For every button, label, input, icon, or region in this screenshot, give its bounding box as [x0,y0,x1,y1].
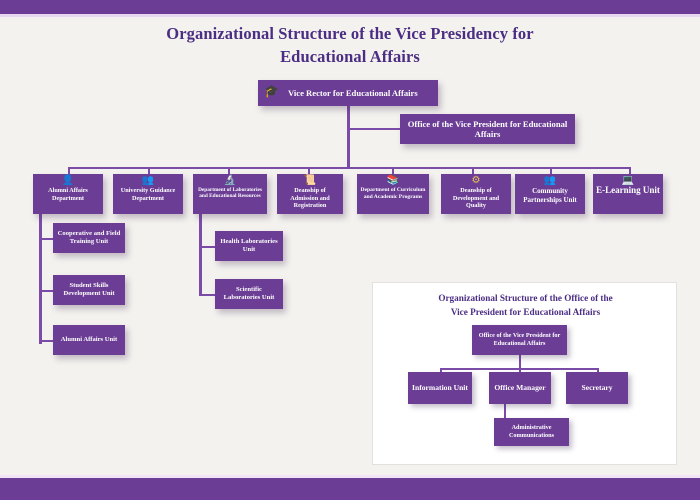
node-elearning-unit-label: E-Learning Unit [596,185,660,196]
inset-node-administrative-communications-label: Administrative Communications [496,424,567,440]
node-admission-registration-deanship-label: Deanship of Admission and Registration [280,187,340,210]
node-elearning-unit[interactable]: E-Learning Unit [593,174,663,214]
node-student-skills-development-unit-label: Student Skills Development Unit [56,282,122,298]
node-curriculum-department-label: Department of Curriculum and Academic Pr… [360,187,426,201]
node-scientific-laboratories-unit[interactable]: Scientific Laboratories Unit [215,279,283,309]
node-office-vice-president[interactable]: Office of the Vice President for Educati… [400,114,575,144]
page-title-line2: Educational Affairs [0,45,700,68]
node-health-laboratories-unit[interactable]: Health Laboratories Unit [215,231,283,261]
inset-node-office-vice-president[interactable]: Office of the Vice President for Educati… [472,325,567,355]
node-vice-rector-label: Vice Rector for Educational Affairs [288,88,435,98]
connector-labs-spine [199,214,202,296]
connector-alumni-spine [39,214,42,344]
node-development-quality-deanship[interactable]: Deanship of Development and Quality [441,174,511,214]
node-alumni-affairs-unit[interactable]: Alumni Affairs Unit [53,325,125,355]
inset-node-office-manager-label: Office Manager [494,383,545,392]
inset-node-office-vice-president-label: Office of the Vice President for Educati… [474,332,565,348]
inset-node-office-manager[interactable]: Office Manager [489,372,551,404]
connector-labs-elbow-2 [201,294,215,296]
connector-alumni-elbow-2 [41,290,53,292]
node-student-skills-development-unit[interactable]: Student Skills Development Unit [53,275,125,305]
bottom-accent-bar [0,478,700,500]
connector-alumni-elbow-1 [41,238,53,240]
inset-node-information-unit-label: Information Unit [412,383,468,392]
connector-department-bus [68,167,630,169]
connector-labs-elbow-1 [201,246,215,248]
page-title-line1: Organizational Structure of the Vice Pre… [0,22,700,45]
node-laboratories-department-label: Department of Laboratories and Education… [196,187,264,200]
node-alumni-affairs-department-label: Alumni Affairs Department [36,187,100,202]
node-curriculum-department[interactable]: Department of Curriculum and Academic Pr… [357,174,429,214]
node-university-guidance-department-label: University Guidance Department [116,187,180,202]
inset-panel-title-line2: Vice President for Educational Affairs [373,305,678,319]
connector-root-to-office [349,128,401,130]
inset-panel-title: Organizational Structure of the Office o… [373,291,678,319]
node-health-laboratories-unit-label: Health Laboratories Unit [218,238,280,254]
top-accent-bar [0,0,700,14]
node-cooperative-field-training-unit-label: Cooperative and Field Training Unit [56,230,122,246]
org-chart-canvas: Organizational Structure of the Vice Pre… [0,0,700,500]
connector-root-trunk [347,106,350,168]
inset-connector-trunk [519,355,521,369]
node-development-quality-deanship-label: Deanship of Development and Quality [444,187,508,210]
node-laboratories-department[interactable]: Department of Laboratories and Education… [193,174,267,214]
node-community-partnerships-unit-label: Community Partnerships Unit [518,187,582,204]
bottom-accent-overline [0,475,700,478]
page-title: Organizational Structure of the Vice Pre… [0,22,700,68]
node-alumni-affairs-department[interactable]: Alumni Affairs Department [33,174,103,214]
inset-node-administrative-communications[interactable]: Administrative Communications [494,418,569,446]
node-admission-registration-deanship[interactable]: Deanship of Admission and Registration [277,174,343,214]
node-scientific-laboratories-unit-label: Scientific Laboratories Unit [218,286,280,302]
top-accent-underline [0,14,700,17]
node-community-partnerships-unit[interactable]: Community Partnerships Unit [515,174,585,214]
inset-node-secretary-label: Secretary [581,383,612,392]
node-office-vice-president-label: Office of the Vice President for Educati… [403,119,572,140]
inset-panel-title-line1: Organizational Structure of the Office o… [373,291,678,305]
inset-node-information-unit[interactable]: Information Unit [408,372,472,404]
node-vice-rector[interactable]: Vice Rector for Educational Affairs [258,80,438,106]
connector-alumni-elbow-3 [41,340,53,342]
node-cooperative-field-training-unit[interactable]: Cooperative and Field Training Unit [53,223,125,253]
node-university-guidance-department[interactable]: University Guidance Department [113,174,183,214]
node-alumni-affairs-unit-label: Alumni Affairs Unit [56,336,122,344]
inset-node-secretary[interactable]: Secretary [566,372,628,404]
